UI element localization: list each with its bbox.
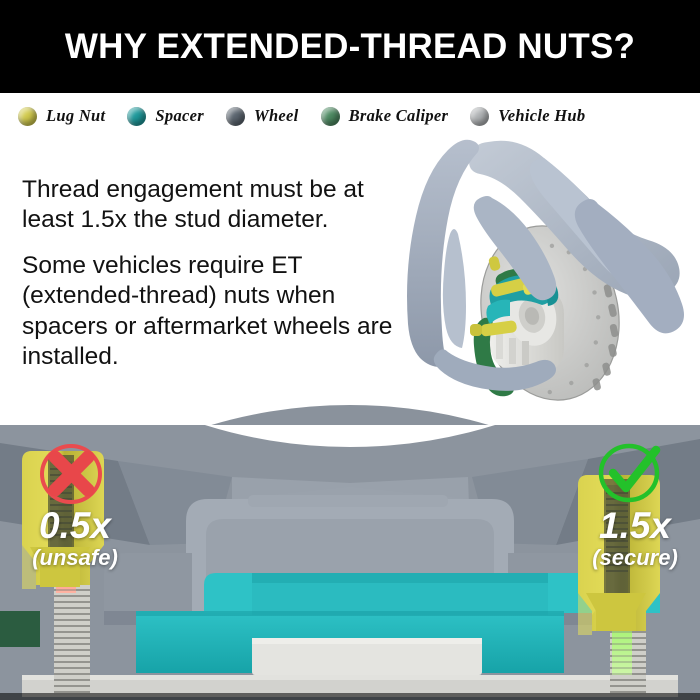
ratio-qualifier-left: (unsafe) [12, 545, 138, 570]
wheel-hub-assembly-render [392, 138, 692, 403]
legend-label-wheel: Wheel [254, 106, 299, 126]
legend-label-lug-nut: Lug Nut [46, 106, 105, 126]
body-paragraph-2: Some vehicles require ET (extended-threa… [22, 251, 402, 372]
legend-item-vehicle-hub: Vehicle Hub [470, 106, 585, 126]
title-bar: WHY EXTENDED-THREAD NUTS? [0, 0, 700, 93]
legend-label-spacer: Spacer [155, 106, 204, 126]
legend: Lug Nut Spacer Wheel Brake Caliper Vehic… [0, 100, 700, 132]
circle-x-icon [38, 443, 104, 505]
circle-check-icon [598, 441, 664, 503]
legend-dot-lug-nut [18, 107, 37, 126]
legend-dot-wheel [226, 107, 245, 126]
ratio-value-right: 1.5x [572, 507, 698, 545]
legend-item-wheel: Wheel [226, 106, 299, 126]
legend-item-lug-nut: Lug Nut [18, 106, 105, 126]
ratio-value-left: 0.5x [12, 507, 138, 545]
brake-caliper-sliver [0, 611, 40, 647]
page-title: WHY EXTENDED-THREAD NUTS? [65, 27, 635, 67]
legend-dot-vehicle-hub [470, 107, 489, 126]
ratio-label-left: 0.5x (unsafe) [12, 507, 138, 570]
legend-label-brake-caliper: Brake Caliper [349, 106, 449, 126]
ratio-qualifier-right: (secure) [572, 545, 698, 570]
legend-item-spacer: Spacer [127, 106, 204, 126]
infographic-root: WHY EXTENDED-THREAD NUTS? Lug Nut Spacer… [0, 0, 700, 700]
body-copy: Thread engagement must be at least 1.5x … [22, 175, 402, 372]
legend-dot-spacer [127, 107, 146, 126]
ratio-label-right: 1.5x (secure) [572, 507, 698, 570]
body-paragraph-1: Thread engagement must be at least 1.5x … [22, 175, 402, 235]
legend-item-brake-caliper: Brake Caliper [321, 106, 449, 126]
legend-label-vehicle-hub: Vehicle Hub [498, 106, 585, 126]
legend-dot-brake-caliper [321, 107, 340, 126]
